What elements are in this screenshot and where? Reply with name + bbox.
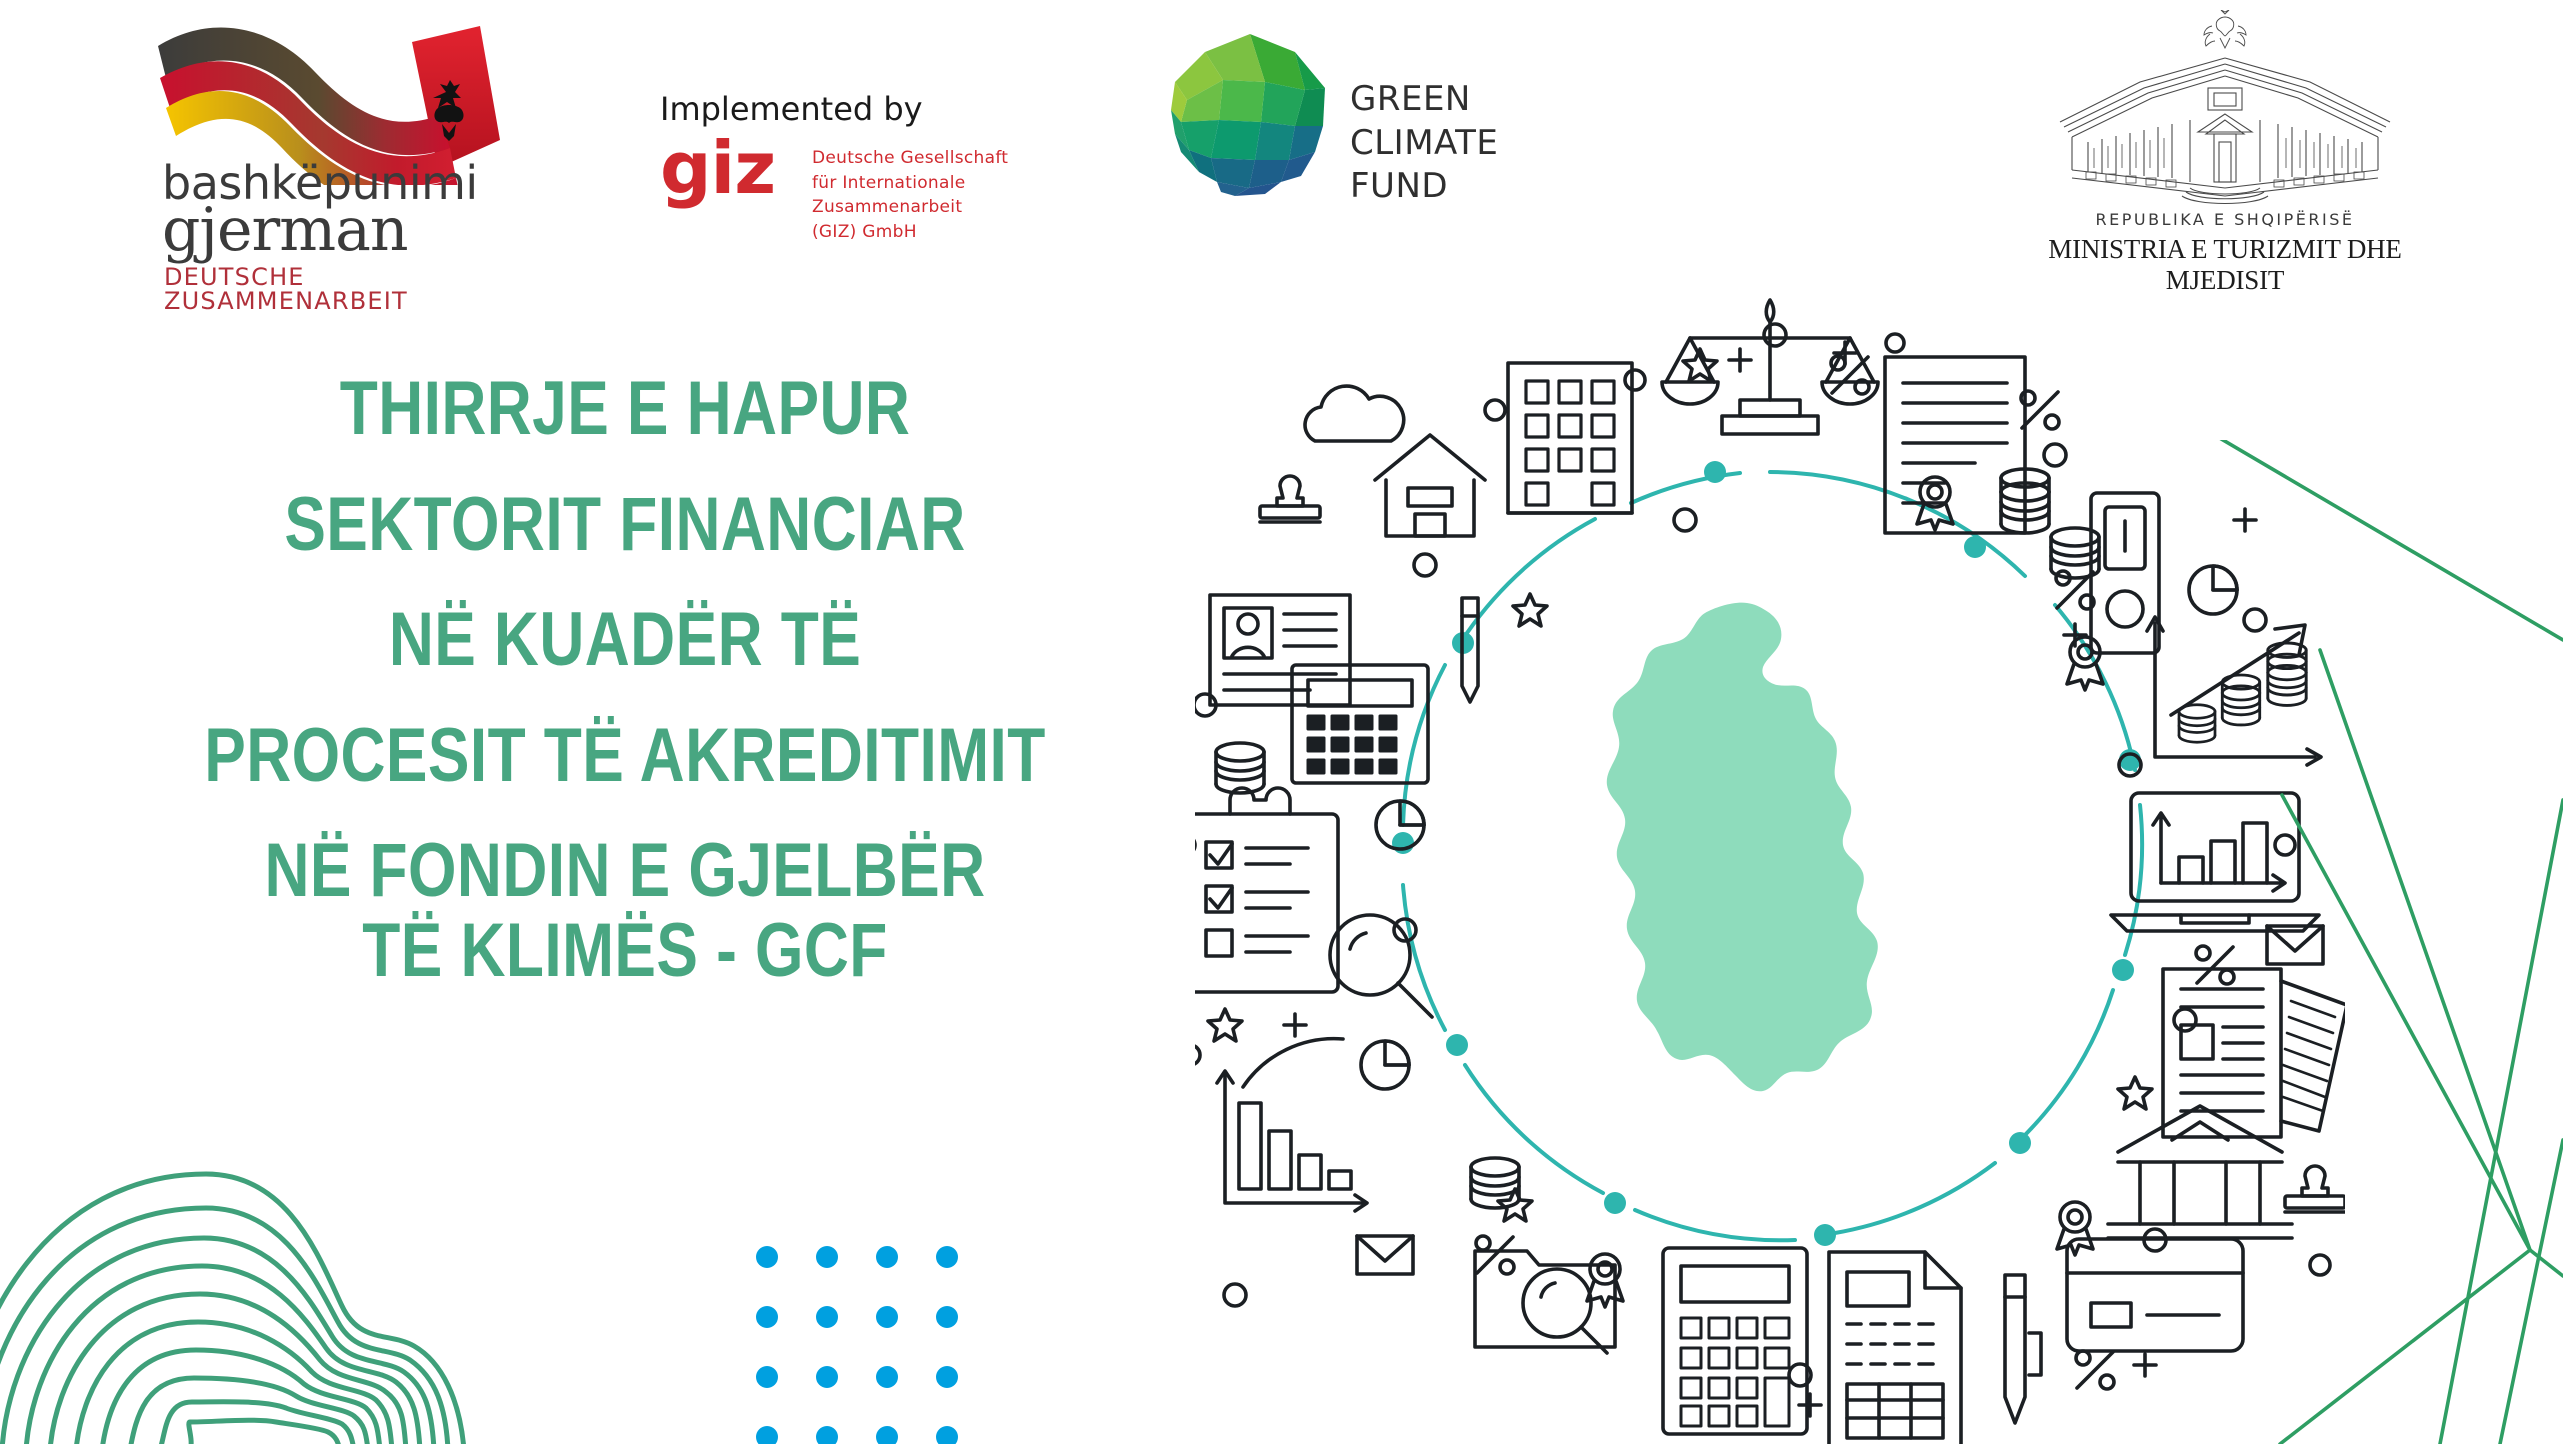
- gcf-line2: CLIMATE: [1350, 122, 1498, 166]
- coin-stack-icon: [1216, 743, 1264, 793]
- star-icon: [1513, 594, 1547, 626]
- faceted-green-globe-icon: [1165, 30, 1335, 200]
- award-ribbon-icon: [1587, 1254, 1623, 1307]
- headline-line-5: NË FONDIN E GJELBËR: [162, 832, 1089, 910]
- star-icon: [1208, 1009, 1242, 1041]
- green-converging-rays: [2130, 440, 2563, 1444]
- giz-subtitle-line2: für Internationale: [812, 171, 1010, 196]
- giz-subtitle-line3: Zusammenarbeit (GIZ) GmbH: [812, 195, 1010, 244]
- percent-icon: [1476, 1236, 1514, 1274]
- coin-stack-icon: [1471, 1158, 1519, 1208]
- invoice-icon: [1829, 1252, 1961, 1444]
- bar-chart-icon: [1217, 1039, 1367, 1211]
- giz-wordmark: giz: [660, 138, 775, 199]
- logo-bar: bashkëpunimi gjerman DEUTSCHE ZUSAMMENAR…: [0, 0, 2563, 290]
- plus-icon: [1729, 349, 1751, 371]
- house-icon: [1375, 435, 1485, 536]
- government-building-icon: [2040, 10, 2410, 210]
- double-headed-eagle-crest-icon: [2204, 10, 2246, 48]
- office-building-icon: [1508, 363, 1632, 513]
- headline-line-4: PROCESIT TË AKREDITIMIT: [162, 717, 1089, 795]
- green-climate-fund-logo: GREEN CLIMATE FUND: [1165, 30, 1525, 220]
- gcf-line3: FUND: [1350, 165, 1498, 209]
- headline-line-1: THIRRJE E HAPUR: [162, 370, 1089, 448]
- ministry-logo: REPUBLIKA E SHQIPËRISË MINISTRIA E TURIZ…: [2010, 10, 2440, 275]
- headline-block: THIRRJE E HAPUR SEKTORIT FINANCIAR NË KU…: [60, 370, 1190, 989]
- albania-map-silhouette: [1607, 603, 1878, 1092]
- pie-chart-icon: [1361, 1041, 1409, 1089]
- folder-search-icon: [1475, 1251, 1615, 1353]
- id-card-icon: [1210, 595, 1350, 705]
- green-climate-fund-wordmark: GREEN CLIMATE FUND: [1350, 78, 1498, 209]
- award-ribbon-icon: [2057, 1202, 2093, 1255]
- german-cooperation-line2: gjerman: [162, 200, 408, 260]
- gcf-line1: GREEN: [1350, 78, 1498, 122]
- ministry-subtitle: REPUBLIKA E SHQIPËRISË: [2010, 210, 2440, 229]
- calculator-icon: [1663, 1248, 1807, 1434]
- envelope-icon: [1357, 1236, 1413, 1274]
- giz-subtitle-line1: Deutsche Gesellschaft: [812, 146, 1010, 171]
- blue-dot-grid: [755, 1245, 970, 1444]
- topographic-contour-lines: [0, 1150, 730, 1444]
- german-cooperation-logo: bashkëpunimi gjerman DEUTSCHE ZUSAMMENAR…: [130, 20, 550, 270]
- giz-logo: Implemented by giz Deutsche Gesellschaft…: [660, 90, 1010, 220]
- german-cooperation-line3: DEUTSCHE ZUSAMMENARBEIT: [164, 265, 550, 313]
- giz-subtitle: Deutsche Gesellschaft für Internationale…: [812, 146, 1010, 245]
- plus-icon: [1799, 1394, 1821, 1416]
- cloud-icon: [1305, 386, 1404, 441]
- giz-implemented-by-label: Implemented by: [660, 90, 923, 128]
- headline-line-6: TË KLIMËS - GCF: [162, 912, 1089, 990]
- headline-line-3: NË KUADËR TË: [162, 601, 1089, 679]
- pen-icon: [2005, 1275, 2041, 1423]
- percent-icon: [2076, 1351, 2114, 1389]
- plus-icon: [1284, 1014, 1306, 1036]
- poster-canvas: bashkëpunimi gjerman DEUTSCHE ZUSAMMENAR…: [0, 0, 2563, 1444]
- headline-line-2: SEKTORIT FINANCIAR: [162, 486, 1089, 564]
- rubber-stamp-icon: [1260, 476, 1320, 522]
- checklist-clipboard-icon: [1195, 788, 1338, 992]
- award-ribbon-icon: [2067, 637, 2103, 690]
